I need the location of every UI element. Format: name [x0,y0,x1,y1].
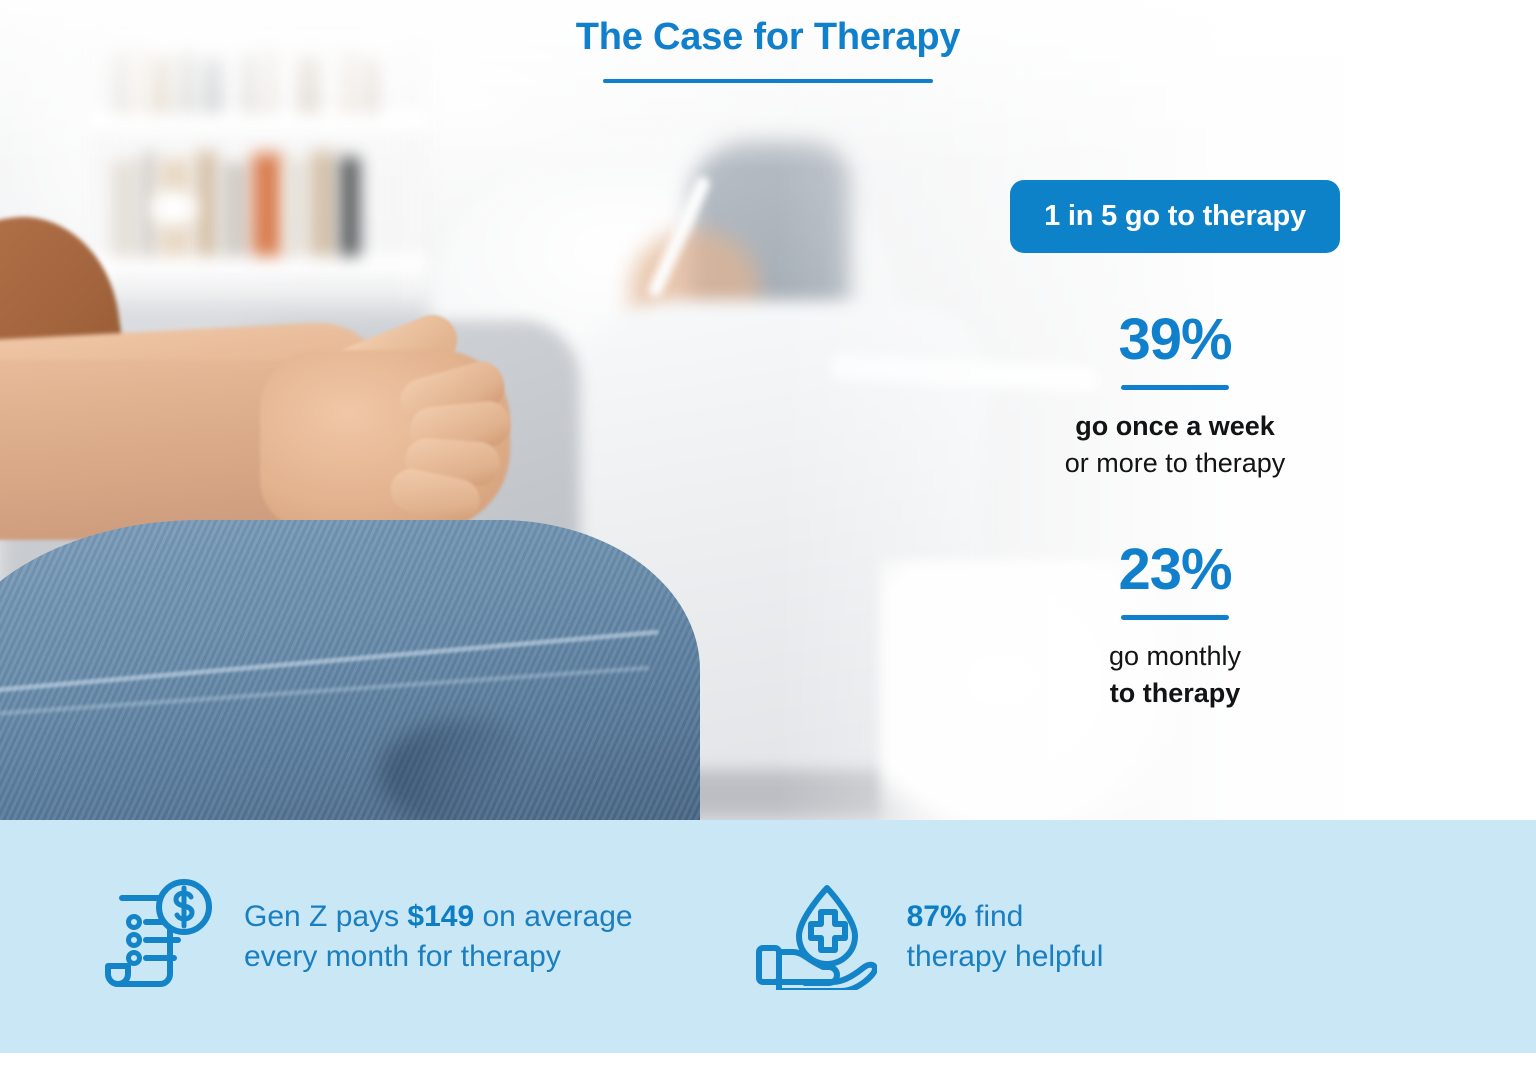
shelf-lamp [150,190,196,226]
footer-helpful-percent: 87% [907,900,967,933]
footer-text-helpful: 87% find therapy helpful [907,897,1104,976]
title-underline [603,79,933,83]
infographic-root: The Case for Therapy 1 in 5 go to therap… [0,0,1536,1069]
book [340,156,360,256]
book [222,162,248,256]
footer-helpful-line2: therapy helpful [907,940,1104,973]
invoice-dollar-icon [104,878,214,995]
stat-label-monthly-line1: go monthly [940,638,1410,675]
stats-column: 1 in 5 go to therapy 39% go once a week … [940,180,1410,712]
footer-cost-post: on average [474,900,632,933]
hand-holding-droplet-cross-icon [751,878,877,995]
footer-text-cost: Gen Z pays $149 on average every month f… [244,897,633,976]
header: The Case for Therapy [0,16,1536,83]
jeans-fold-shadow [380,720,560,820]
stat-block-monthly: 23% go monthly to therapy [940,541,1410,713]
stat-divider [1121,385,1229,390]
stat-divider [1121,615,1229,620]
stat-block-weekly: 39% go once a week or more to therapy [940,311,1410,483]
badge-one-in-five: 1 in 5 go to therapy [1010,180,1340,253]
book [112,160,138,256]
stat-label-weekly-line2: or more to therapy [940,445,1410,482]
stat-label-monthly-line2: to therapy [940,675,1410,712]
footer-cost-pre: Gen Z pays [244,900,407,933]
footer-cost-line2: every month for therapy [244,940,561,973]
stat-percent-weekly: 39% [940,311,1410,369]
footer-item-cost: Gen Z pays $149 on average every month f… [104,878,633,995]
page-title: The Case for Therapy [0,16,1536,59]
stat-label-weekly-line1: go once a week [940,408,1410,445]
footer-helpful-post: find [967,900,1024,933]
book [286,158,306,256]
bookshelf-plank-bottom [88,255,428,273]
footer-cost-amount: $149 [407,900,474,933]
footer-band: Gen Z pays $149 on average every month f… [0,820,1536,1053]
stat-percent-monthly: 23% [940,541,1410,599]
footer-item-helpful: 87% find therapy helpful [751,878,1104,995]
